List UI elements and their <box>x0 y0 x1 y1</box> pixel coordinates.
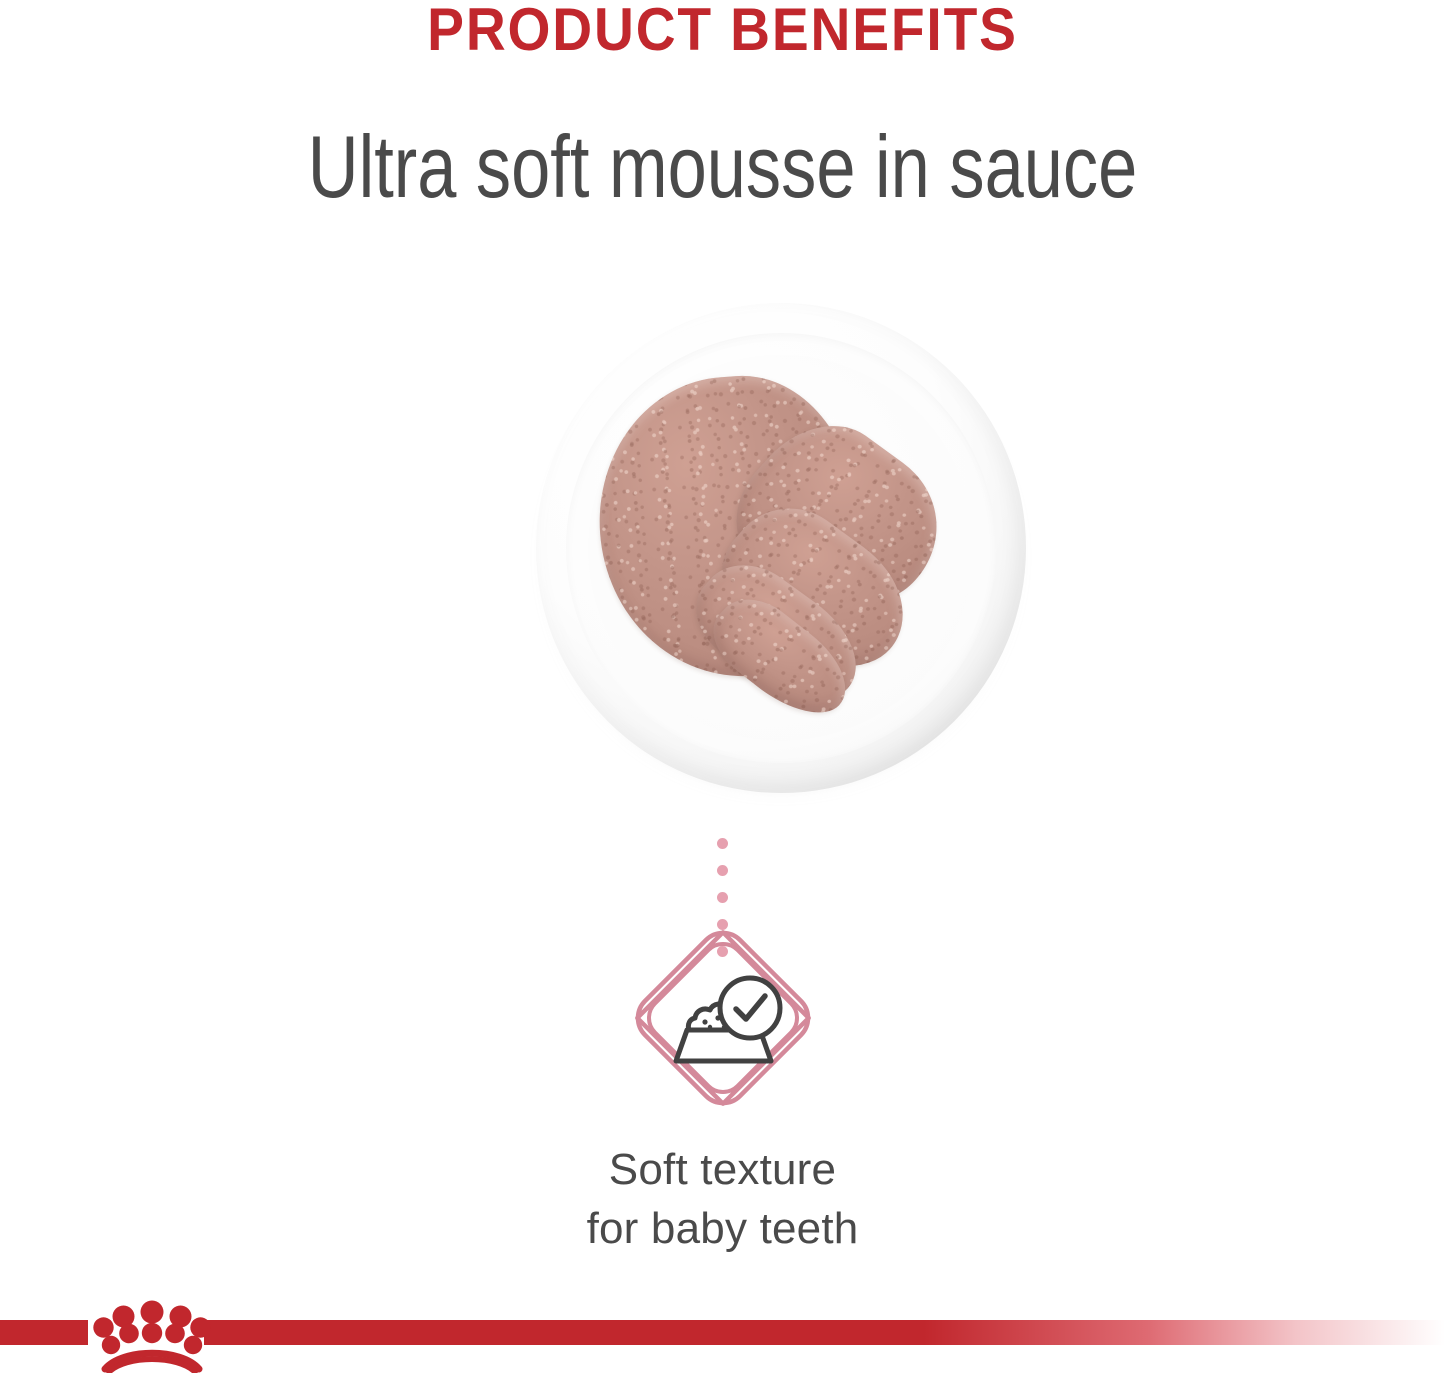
kibble-dot <box>702 1019 707 1024</box>
connector-dot <box>717 892 728 903</box>
red-rule-left <box>0 1320 88 1345</box>
benefit-caption-line-1: Soft texture <box>587 1141 859 1200</box>
benefit-caption-line-2: for baby teeth <box>587 1200 859 1259</box>
check-badge-circle <box>720 978 780 1038</box>
red-rule-right <box>204 1320 1445 1345</box>
royal-canin-crown-logo <box>93 1300 211 1373</box>
product-benefits-panel: PRODUCT BENEFITS Ultra soft mousse in sa… <box>0 0 1445 1373</box>
hero-product-photo <box>536 303 1026 793</box>
plate <box>536 303 1026 793</box>
benefit-caption: Soft texture for baby teeth <box>587 1141 859 1258</box>
kibble-dot <box>707 1025 711 1029</box>
page-eyebrow-title: PRODUCT BENEFITS <box>58 0 1387 61</box>
connector-dot <box>717 865 728 876</box>
benefit-block: Soft texture for baby teeth <box>0 925 1445 1258</box>
mousse-group <box>594 359 974 741</box>
page-headline: Ultra soft mousse in sauce <box>145 118 1301 217</box>
connector-dot <box>717 838 728 849</box>
food-bowl-check-icon <box>630 925 816 1111</box>
footer-brand-bar <box>0 1300 1445 1373</box>
